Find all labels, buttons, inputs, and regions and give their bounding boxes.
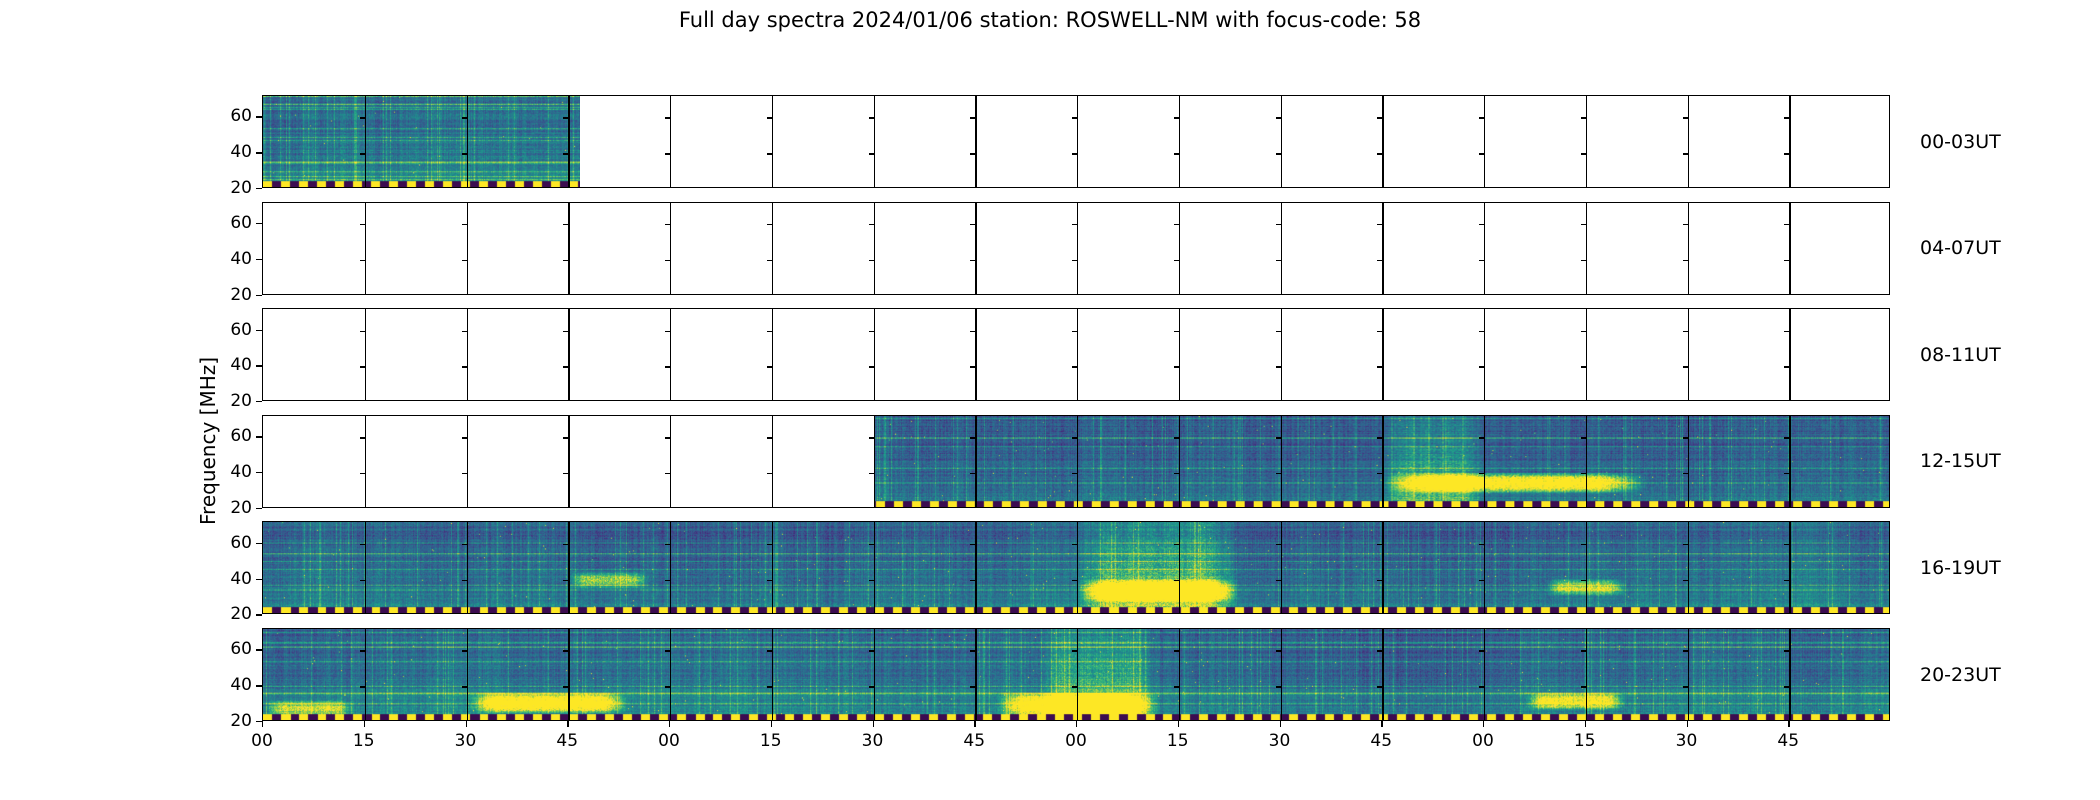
y-tick-mark — [1581, 331, 1586, 332]
cell-separator — [1484, 416, 1485, 507]
cell-separator — [975, 629, 976, 720]
y-tick-mark — [360, 437, 365, 438]
y-tick-mark — [1581, 650, 1586, 651]
spectrogram-row-12-15ut: 20406012-15UT — [262, 415, 1890, 508]
y-tick-mark — [563, 437, 568, 438]
y-tick-mark — [1581, 117, 1586, 118]
y-tick-mark — [1377, 224, 1382, 225]
y-tick-mark — [1072, 437, 1077, 438]
y-tick-mark — [360, 224, 365, 225]
cell-separator — [874, 416, 875, 507]
spectrogram-figure: Full day spectra 2024/01/06 station: ROS… — [0, 0, 2100, 800]
y-tick-mark — [767, 437, 772, 438]
y-tick-mark — [256, 152, 262, 153]
y-tick-mark — [1784, 331, 1789, 332]
cell-separator — [1281, 522, 1282, 613]
cell-separator — [1688, 629, 1689, 720]
cell-separator — [874, 203, 875, 294]
cell-separator — [1688, 309, 1689, 400]
y-tick-mark — [462, 437, 467, 438]
cell-separator — [1789, 629, 1790, 720]
y-tick-mark — [869, 366, 874, 367]
cell-separator — [1382, 96, 1383, 187]
cell-separator — [467, 416, 468, 507]
cell-separator — [1789, 96, 1790, 187]
y-tick-mark — [1174, 686, 1179, 687]
y-tick-mark — [767, 260, 772, 261]
cell-separator — [1179, 203, 1180, 294]
y-tick-mark — [563, 366, 568, 367]
y-tick-mark — [1072, 331, 1077, 332]
y-tick-mark — [869, 544, 874, 545]
y-tick-mark — [462, 331, 467, 332]
y-tick-mark — [1581, 437, 1586, 438]
cell-separator — [568, 309, 569, 400]
x-tick-mark — [262, 721, 263, 727]
y-tick-mark — [1276, 580, 1281, 581]
spectrogram-row-08-11ut: 20406008-11UT — [262, 308, 1890, 401]
x-tick-mark — [1076, 721, 1077, 727]
y-tick-mark — [869, 331, 874, 332]
cell-separator — [1281, 96, 1282, 187]
y-tick-mark — [1683, 473, 1688, 474]
y-tick-mark — [256, 223, 262, 224]
cell-separator — [1281, 416, 1282, 507]
axes-panel — [262, 202, 1890, 295]
y-tick-mark — [1072, 473, 1077, 474]
y-tick-mark — [970, 544, 975, 545]
y-tick-mark — [1377, 153, 1382, 154]
y-tick-mark — [970, 580, 975, 581]
x-tick-label: 15 — [353, 731, 375, 751]
y-tick-mark — [1683, 224, 1688, 225]
y-tick-mark — [1276, 331, 1281, 332]
x-tick-mark — [1483, 721, 1484, 727]
y-tick-mark — [360, 580, 365, 581]
y-tick-mark — [970, 117, 975, 118]
cell-separator — [874, 309, 875, 400]
y-tick-mark — [1377, 544, 1382, 545]
x-tick-label: 30 — [1269, 731, 1291, 751]
figure-title: Full day spectra 2024/01/06 station: ROS… — [0, 8, 2100, 32]
cell-separator — [1789, 203, 1790, 294]
y-tick-mark — [1683, 260, 1688, 261]
x-tick-label: 00 — [658, 731, 680, 751]
y-tick-label: 60 — [230, 213, 252, 233]
cell-separator — [1077, 629, 1078, 720]
y-tick-mark — [665, 224, 670, 225]
x-tick-label: 45 — [1777, 731, 1799, 751]
x-tick-mark — [567, 721, 568, 727]
y-tick-mark — [1276, 117, 1281, 118]
y-tick-mark — [360, 117, 365, 118]
y-tick-mark — [563, 544, 568, 545]
y-tick-mark — [869, 580, 874, 581]
y-tick-mark — [256, 188, 262, 189]
y-tick-mark — [869, 686, 874, 687]
y-tick-label: 20 — [230, 498, 252, 518]
y-tick-mark — [1479, 544, 1484, 545]
x-tick-label: 30 — [455, 731, 477, 751]
y-tick-mark — [1479, 580, 1484, 581]
y-tick-mark — [1479, 260, 1484, 261]
axes-panel — [262, 415, 1890, 508]
cell-separator — [1688, 416, 1689, 507]
y-tick-mark — [462, 153, 467, 154]
y-tick-label: 40 — [230, 355, 252, 375]
y-tick-mark — [665, 331, 670, 332]
y-tick-mark — [462, 473, 467, 474]
y-tick-mark — [970, 366, 975, 367]
x-tick-mark — [1381, 721, 1382, 727]
y-tick-mark — [1072, 224, 1077, 225]
cell-separator — [365, 96, 366, 187]
cell-separator — [772, 96, 773, 187]
y-tick-mark — [1683, 650, 1688, 651]
cell-separator — [1179, 522, 1180, 613]
x-tick-label: 00 — [251, 731, 273, 751]
y-tick-mark — [970, 260, 975, 261]
y-tick-mark — [563, 686, 568, 687]
y-tick-mark — [767, 224, 772, 225]
cell-separator — [1688, 203, 1689, 294]
y-tick-mark — [1479, 437, 1484, 438]
y-tick-mark — [1276, 650, 1281, 651]
y-tick-mark — [665, 260, 670, 261]
y-tick-mark — [665, 473, 670, 474]
y-tick-mark — [1784, 544, 1789, 545]
y-tick-mark — [1072, 686, 1077, 687]
y-tick-mark — [1784, 437, 1789, 438]
y-axis-label: Frequency [MHz] — [196, 501, 220, 525]
y-tick-mark — [462, 117, 467, 118]
cell-separator — [1281, 203, 1282, 294]
y-tick-mark — [462, 224, 467, 225]
y-tick-mark — [1377, 117, 1382, 118]
y-tick-mark — [1276, 153, 1281, 154]
y-tick-label: 40 — [230, 249, 252, 269]
cell-separator — [1688, 96, 1689, 187]
axes-panel — [262, 628, 1890, 721]
y-tick-mark — [767, 580, 772, 581]
cell-separator — [1179, 96, 1180, 187]
y-tick-label: 20 — [230, 391, 252, 411]
y-tick-mark — [1683, 331, 1688, 332]
row-label-04-07ut: 04-07UT — [1920, 237, 2001, 259]
y-tick-mark — [1581, 224, 1586, 225]
cell-separator — [1382, 416, 1383, 507]
y-tick-mark — [1072, 366, 1077, 367]
x-tick-label: 30 — [862, 731, 884, 751]
y-tick-mark — [767, 650, 772, 651]
y-tick-mark — [1072, 650, 1077, 651]
y-tick-mark — [970, 153, 975, 154]
cell-separator — [1688, 522, 1689, 613]
y-tick-mark — [1581, 366, 1586, 367]
y-tick-mark — [256, 649, 262, 650]
cell-separator — [1179, 309, 1180, 400]
y-tick-mark — [665, 650, 670, 651]
y-tick-mark — [256, 614, 262, 615]
y-tick-mark — [256, 436, 262, 437]
y-tick-mark — [462, 580, 467, 581]
y-tick-mark — [767, 473, 772, 474]
cell-separator — [670, 203, 671, 294]
cell-separator — [1789, 416, 1790, 507]
y-tick-mark — [563, 224, 568, 225]
cell-separator — [568, 203, 569, 294]
cell-separator — [1382, 629, 1383, 720]
cell-separator — [1484, 96, 1485, 187]
cell-separator — [975, 203, 976, 294]
y-tick-mark — [1683, 544, 1688, 545]
y-tick-mark — [869, 650, 874, 651]
y-tick-mark — [563, 473, 568, 474]
y-tick-mark — [767, 366, 772, 367]
row-label-16-19ut: 16-19UT — [1920, 557, 2001, 579]
x-tick-mark — [771, 721, 772, 727]
y-tick-mark — [1377, 366, 1382, 367]
y-tick-mark — [1479, 366, 1484, 367]
cell-separator — [874, 522, 875, 613]
cell-separator — [1281, 309, 1282, 400]
y-tick-mark — [970, 650, 975, 651]
x-tick-mark — [1788, 721, 1789, 727]
y-tick-mark — [1683, 153, 1688, 154]
cell-separator — [467, 96, 468, 187]
y-tick-mark — [869, 117, 874, 118]
y-tick-mark — [462, 260, 467, 261]
y-tick-label: 20 — [230, 285, 252, 305]
y-tick-mark — [1072, 153, 1077, 154]
y-tick-mark — [1581, 153, 1586, 154]
row-label-20-23ut: 20-23UT — [1920, 664, 2001, 686]
cell-separator — [1077, 309, 1078, 400]
y-tick-mark — [1479, 650, 1484, 651]
y-tick-mark — [1276, 366, 1281, 367]
cell-separator — [1077, 416, 1078, 507]
cell-separator — [467, 309, 468, 400]
cell-separator — [1484, 203, 1485, 294]
row-label-08-11ut: 08-11UT — [1920, 344, 2001, 366]
y-tick-mark — [256, 472, 262, 473]
y-tick-mark — [869, 437, 874, 438]
cell-separator — [568, 629, 569, 720]
y-tick-mark — [1784, 366, 1789, 367]
y-tick-mark — [1174, 117, 1179, 118]
y-tick-mark — [1072, 580, 1077, 581]
y-tick-mark — [1784, 153, 1789, 154]
y-tick-mark — [360, 473, 365, 474]
y-tick-mark — [256, 543, 262, 544]
cell-separator — [365, 629, 366, 720]
y-tick-label: 40 — [230, 462, 252, 482]
y-tick-mark — [665, 117, 670, 118]
cell-separator — [568, 416, 569, 507]
y-tick-mark — [1683, 580, 1688, 581]
y-tick-label: 60 — [230, 320, 252, 340]
y-tick-mark — [869, 473, 874, 474]
x-tick-label: 15 — [1167, 731, 1189, 751]
y-tick-mark — [1377, 473, 1382, 474]
cell-separator — [975, 416, 976, 507]
cell-separator — [1179, 629, 1180, 720]
axes-panel — [262, 308, 1890, 401]
x-tick-mark — [974, 721, 975, 727]
y-tick-label: 40 — [230, 569, 252, 589]
x-tick-label: 45 — [963, 731, 985, 751]
y-tick-label: 60 — [230, 639, 252, 659]
y-tick-mark — [360, 686, 365, 687]
y-tick-mark — [1377, 331, 1382, 332]
cell-separator — [467, 522, 468, 613]
y-tick-mark — [869, 260, 874, 261]
cell-separator — [365, 203, 366, 294]
cell-separator — [1484, 629, 1485, 720]
cell-separator — [365, 309, 366, 400]
row-label-12-15ut: 12-15UT — [1920, 450, 2001, 472]
y-tick-mark — [1377, 686, 1382, 687]
y-tick-mark — [256, 579, 262, 580]
y-tick-mark — [1276, 686, 1281, 687]
cell-separator — [975, 309, 976, 400]
cell-separator — [1077, 96, 1078, 187]
cell-separator — [975, 96, 976, 187]
y-tick-mark — [256, 401, 262, 402]
x-tick-mark — [1178, 721, 1179, 727]
cell-separator — [874, 96, 875, 187]
y-tick-mark — [1174, 437, 1179, 438]
y-tick-mark — [970, 473, 975, 474]
y-tick-label: 60 — [230, 533, 252, 553]
y-tick-mark — [1479, 224, 1484, 225]
cell-separator — [772, 309, 773, 400]
y-tick-mark — [563, 331, 568, 332]
y-tick-mark — [462, 686, 467, 687]
y-tick-mark — [1276, 224, 1281, 225]
x-tick-label: 45 — [556, 731, 578, 751]
y-tick-label: 20 — [230, 178, 252, 198]
y-tick-mark — [767, 117, 772, 118]
y-tick-mark — [1784, 686, 1789, 687]
y-tick-mark — [256, 295, 262, 296]
spectrogram-row-00-03ut: 20406000-03UT — [262, 95, 1890, 188]
x-tick-mark — [364, 721, 365, 727]
spectrogram-row-16-19ut: 20406016-19UT — [262, 521, 1890, 614]
spectrogram-data-block — [263, 96, 580, 187]
y-tick-label: 40 — [230, 675, 252, 695]
cell-separator — [1484, 309, 1485, 400]
y-tick-mark — [767, 331, 772, 332]
y-tick-mark — [1174, 260, 1179, 261]
y-tick-label: 40 — [230, 142, 252, 162]
cell-separator — [1382, 309, 1383, 400]
y-tick-mark — [1276, 544, 1281, 545]
cell-separator — [772, 416, 773, 507]
y-tick-mark — [665, 437, 670, 438]
y-tick-mark — [1174, 153, 1179, 154]
cell-separator — [772, 203, 773, 294]
axes-panel — [262, 95, 1890, 188]
y-tick-mark — [1174, 366, 1179, 367]
axes-panel — [262, 521, 1890, 614]
y-tick-mark — [665, 580, 670, 581]
y-tick-mark — [360, 153, 365, 154]
y-tick-mark — [1377, 437, 1382, 438]
y-tick-mark — [970, 224, 975, 225]
cell-separator — [467, 629, 468, 720]
y-tick-mark — [563, 117, 568, 118]
y-tick-mark — [256, 508, 262, 509]
cell-separator — [874, 629, 875, 720]
y-tick-mark — [1784, 260, 1789, 261]
y-tick-mark — [256, 116, 262, 117]
y-tick-mark — [1683, 117, 1688, 118]
cell-separator — [1382, 522, 1383, 613]
y-tick-mark — [256, 365, 262, 366]
cell-separator — [772, 629, 773, 720]
y-tick-mark — [665, 686, 670, 687]
cell-separator — [467, 203, 468, 294]
y-tick-mark — [1174, 473, 1179, 474]
cell-separator — [1281, 629, 1282, 720]
cell-separator — [670, 416, 671, 507]
cell-separator — [1586, 416, 1587, 507]
x-tick-mark — [1585, 721, 1586, 727]
y-tick-label: 60 — [230, 106, 252, 126]
y-tick-mark — [1377, 260, 1382, 261]
x-tick-label: 00 — [1065, 731, 1087, 751]
y-tick-mark — [1377, 650, 1382, 651]
y-tick-mark — [767, 686, 772, 687]
y-tick-mark — [1784, 224, 1789, 225]
y-tick-mark — [256, 685, 262, 686]
y-tick-mark — [1784, 473, 1789, 474]
cell-separator — [670, 629, 671, 720]
y-tick-mark — [256, 259, 262, 260]
y-tick-mark — [563, 260, 568, 261]
y-tick-mark — [1581, 686, 1586, 687]
cell-separator — [568, 522, 569, 613]
y-tick-mark — [360, 331, 365, 332]
y-tick-mark — [360, 366, 365, 367]
y-tick-mark — [665, 544, 670, 545]
y-tick-mark — [360, 260, 365, 261]
cell-separator — [1586, 309, 1587, 400]
y-tick-mark — [563, 580, 568, 581]
y-tick-mark — [1276, 437, 1281, 438]
cell-separator — [568, 96, 569, 187]
cell-separator — [670, 309, 671, 400]
y-tick-mark — [1479, 331, 1484, 332]
cell-separator — [365, 522, 366, 613]
y-tick-mark — [1581, 473, 1586, 474]
y-tick-mark — [1581, 544, 1586, 545]
y-tick-mark — [256, 330, 262, 331]
cell-separator — [1077, 522, 1078, 613]
x-tick-mark — [1687, 721, 1688, 727]
y-tick-mark — [360, 650, 365, 651]
cell-separator — [1789, 522, 1790, 613]
y-tick-mark — [869, 153, 874, 154]
cell-separator — [1586, 522, 1587, 613]
cell-separator — [1382, 203, 1383, 294]
y-tick-mark — [462, 366, 467, 367]
y-tick-mark — [1784, 650, 1789, 651]
y-tick-mark — [1479, 473, 1484, 474]
cell-separator — [975, 522, 976, 613]
cell-separator — [1586, 629, 1587, 720]
